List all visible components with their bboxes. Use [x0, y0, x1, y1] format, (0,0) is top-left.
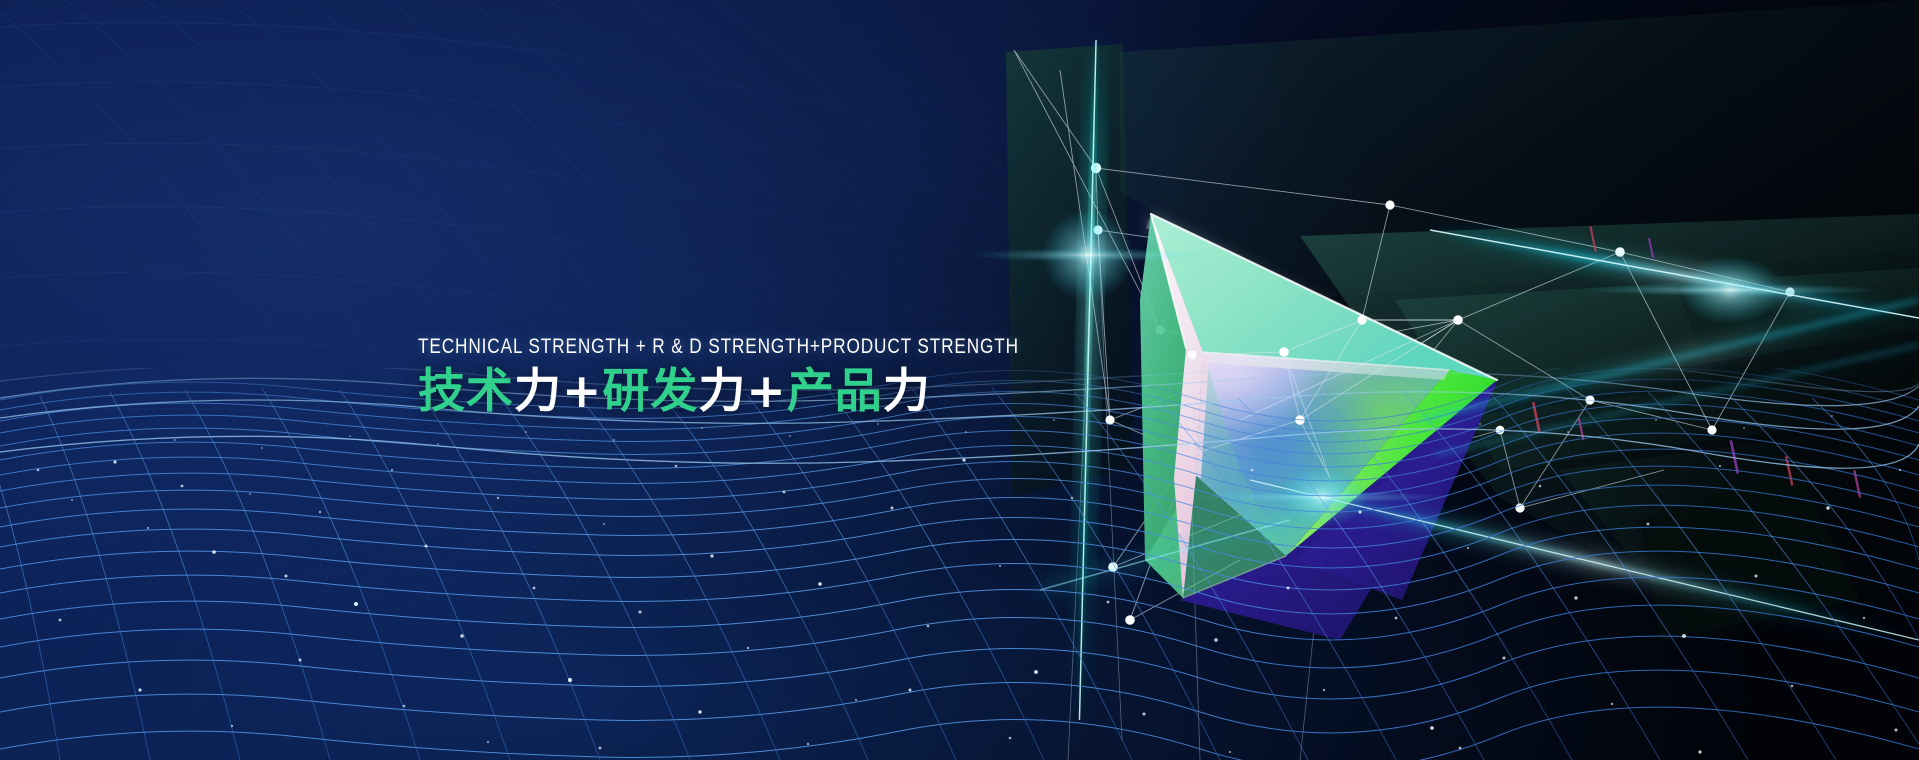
headline-segment-7: 力	[883, 364, 931, 419]
hero-headline: 技术力+研发力+产品力	[418, 367, 1169, 417]
hero-text-block: TECHNICAL STRENGTH + R & D STRENGTH+PROD…	[418, 336, 1169, 416]
headline-segment-2: +	[562, 364, 602, 419]
hero-banner: TECHNICAL STRENGTH + R & D STRENGTH+PROD…	[0, 0, 1919, 760]
headline-segment-5: +	[746, 364, 786, 419]
headline-segment-4: 力	[698, 364, 746, 419]
headline-segment-3: 研发	[602, 364, 698, 419]
headline-segment-0: 技术	[418, 364, 514, 419]
headline-segment-1: 力	[514, 364, 562, 419]
hero-eyebrow: TECHNICAL STRENGTH + R & D STRENGTH+PROD…	[418, 336, 1019, 358]
headline-segment-6: 产品	[787, 364, 883, 419]
